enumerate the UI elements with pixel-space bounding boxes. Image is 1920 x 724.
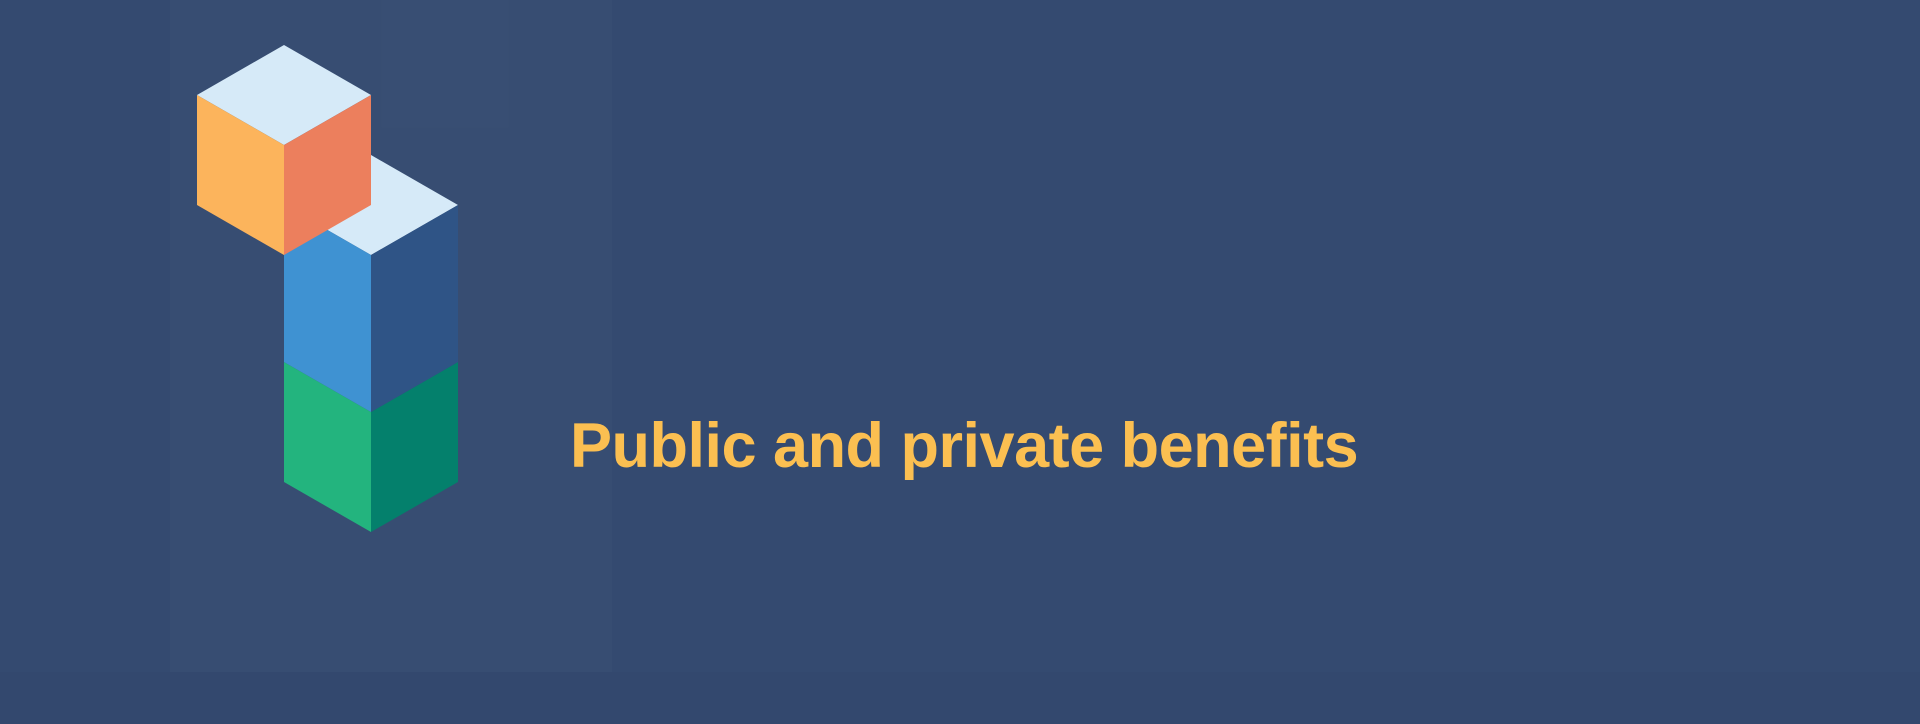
headline-line-1: Public and private benefits — [570, 402, 1870, 490]
headline: Public and private benefits bolster pers… — [570, 138, 1870, 724]
slide-canvas: Public and private benefits bolster pers… — [0, 0, 1920, 724]
stacked-isometric-cubes-illustration — [196, 40, 466, 680]
headline-segment-benefits: Public and private benefits — [570, 411, 1358, 481]
